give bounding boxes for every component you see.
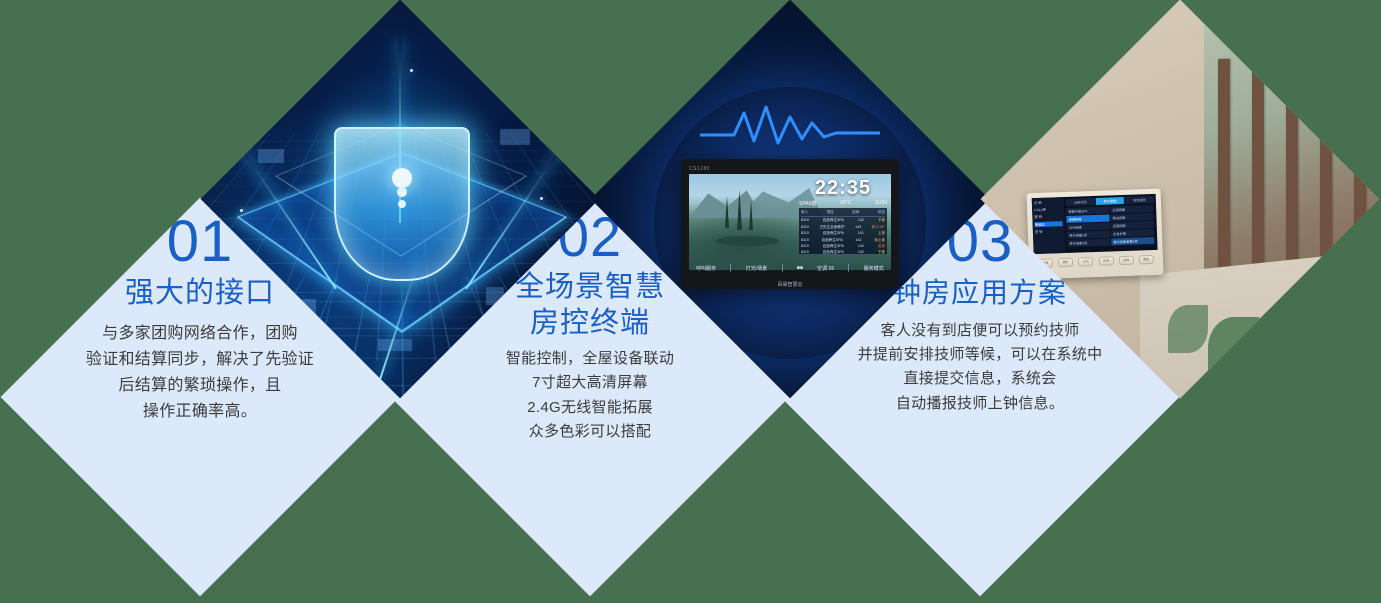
infographic-stage: 01 强大的接口 与多家团购网络合作，团购 验证和结算同步，解决了先验证 后结算… xyxy=(0,0,1381,603)
panel-hard-keys: 菜单 服务 灯光 空调 返回 确定 xyxy=(1034,255,1158,268)
cell-status: 剩11'55" xyxy=(872,225,885,230)
cell-room: 8119 xyxy=(801,238,809,243)
divider xyxy=(730,264,731,272)
cell-item: 自选养生SPA xyxy=(823,244,844,249)
cell-tech: 141 xyxy=(858,231,864,236)
cell-tech: 142 xyxy=(858,244,864,249)
spark-icon xyxy=(540,197,543,200)
cell-status: 加钟 xyxy=(878,244,885,249)
side-item[interactable]: 退 钟 xyxy=(1035,228,1063,234)
panel-title-line: 钟房应用方案 xyxy=(893,276,1067,310)
clock-widget: 22:35 SPA6楼 26°C 11/24 xyxy=(799,178,887,207)
panel-title-line: 房控终端 xyxy=(515,306,665,341)
service-table: 房人 项目 技师 状态 8119 自选养生SPA 142 下钟 xyxy=(799,208,887,254)
table-header-cell: 状态 xyxy=(878,210,885,215)
desc-line: 并提前安排技师等候，可以在系统中 xyxy=(858,343,1103,367)
side-item[interactable]: CALL钟 xyxy=(1034,206,1062,212)
bar-item-lighting[interactable]: 灯光/场景 xyxy=(746,265,767,272)
island-shape xyxy=(715,236,779,246)
desc-line: 众多色彩可以搭配 xyxy=(506,420,674,444)
device-bottom-bar: 呼叫服务 灯光/场景 ■■ 空调 26 服务模式 xyxy=(689,261,891,275)
plant-icon xyxy=(1250,319,1316,393)
panel-title-03: 钟房应用方案 xyxy=(893,276,1067,310)
key-button[interactable]: 灯光 xyxy=(1078,257,1093,267)
key-button[interactable]: 服务 xyxy=(1058,258,1073,268)
apps-grid-icon[interactable]: ■■ xyxy=(797,265,803,271)
chip-icon xyxy=(378,339,412,351)
wall-control-panel[interactable]: 点 钟 CALL钟 圈 钟 等候区 退 钟 全部项目 养生保健 特色服务 xyxy=(1027,189,1164,280)
panel-desc-03: 客人没有到店便可以预约技师 并提前安排技师等候，可以在系统中 直接提交信息，系统… xyxy=(858,319,1103,416)
side-item[interactable]: 点 钟 xyxy=(1034,199,1062,205)
wood-slat xyxy=(1218,59,1230,299)
cell-room: 8119 xyxy=(801,218,809,223)
divider xyxy=(848,264,849,272)
clock-subline: SPA6楼 26°C 11/24 xyxy=(799,200,887,207)
cell-tech: 142 xyxy=(855,238,861,243)
desc-line: 操作正确率高。 xyxy=(86,399,314,425)
panel-content: 全部项目 养生保健 特色服务 保健专案SPA 正规按摩 保健按摩 精油按摩 SP… xyxy=(1064,194,1158,253)
cell-status: 待上钟 xyxy=(874,238,885,243)
cell-tech: 142 xyxy=(858,250,864,255)
desc-line: 客人没有到店便可以预约技师 xyxy=(858,319,1103,343)
spark-icon xyxy=(410,69,413,72)
device-brand-label: CS1280 xyxy=(689,166,891,172)
device-screen: 22:35 SPA6楼 26°C 11/24 房人 项目 技师 xyxy=(689,174,891,270)
key-button[interactable]: 空调 xyxy=(1098,256,1113,266)
date-label: 11/24 xyxy=(875,200,887,207)
panel-service-list: 保健专案SPA 正规按摩 保健按摩 精油按摩 SPA经络 足部按摩 养生按摩2项… xyxy=(1066,205,1155,247)
table-header-cell: 技师 xyxy=(852,210,859,215)
cell-item: 王先生全身养护 xyxy=(819,225,844,230)
panel-title-02: 全场景智慧 房控终端 xyxy=(515,270,665,341)
cell-status: 下钟 xyxy=(878,218,885,223)
panel-title-line: 强大的接口 xyxy=(125,276,275,311)
cell-item: 自选养生SPA xyxy=(823,218,844,223)
cell-tech: 143 xyxy=(855,225,861,230)
control-terminal-device: CS1280 22:35 xyxy=(681,159,899,289)
cell-item: 自选养生SPA xyxy=(823,231,844,236)
cell-item: 自选养生SPA xyxy=(823,250,844,255)
bar-item-aircon[interactable]: 空调 26 xyxy=(817,265,834,272)
key-button[interactable]: 返回 xyxy=(1119,256,1134,266)
bar-item-call-service[interactable]: 呼叫服务 xyxy=(696,265,716,272)
desc-line: 7寸超大高清屏幕 xyxy=(506,371,674,395)
tab-special[interactable]: 特色服务 xyxy=(1125,196,1154,204)
table-header-cell: 房人 xyxy=(801,210,808,215)
cell-status: 下钟 xyxy=(878,250,885,255)
panel-screen: 点 钟 CALL钟 圈 钟 等候区 退 钟 全部项目 养生保健 特色服务 xyxy=(1032,194,1158,254)
zone-label: SPA6楼 xyxy=(799,200,816,207)
cell-room: 8119 xyxy=(801,225,809,230)
divider xyxy=(782,264,783,272)
side-item-selected[interactable]: 等候区 xyxy=(1035,221,1063,227)
service-item[interactable]: 豪华按摩套餐2项 xyxy=(1111,237,1154,245)
desc-line: 与多家团购网络合作，团购 xyxy=(86,321,314,347)
chip-icon xyxy=(500,129,530,145)
cell-tech: 142 xyxy=(858,218,864,223)
tab-all-items[interactable]: 全部项目 xyxy=(1066,198,1095,206)
table-header-row: 房人 项目 技师 状态 xyxy=(801,210,885,217)
plant-icon xyxy=(1208,317,1260,379)
clock-time: 22:35 xyxy=(799,178,887,198)
chip-icon xyxy=(258,149,284,163)
spark-icon xyxy=(240,209,243,212)
cell-status: 上钟 xyxy=(878,231,885,236)
desc-line: 智能控制，全屋设备联动 xyxy=(506,347,674,371)
table-row: 8119 自选养生SPA 142 下钟 xyxy=(801,249,885,255)
temperature-label: 26°C xyxy=(840,200,851,207)
plant-icon xyxy=(1168,305,1208,353)
desc-line: 自动播报技师上钟信息。 xyxy=(858,392,1103,416)
heartbeat-pulse-icon xyxy=(700,103,880,154)
panel-title-01: 强大的接口 xyxy=(125,276,275,311)
table-header-cell: 项目 xyxy=(827,210,834,215)
key-button[interactable]: 确定 xyxy=(1139,255,1154,265)
panel-title-line: 全场景智慧 xyxy=(515,270,665,305)
bar-item-service-mode[interactable]: 服务模式 xyxy=(864,265,884,272)
tab-wellness[interactable]: 养生保健 xyxy=(1096,197,1125,205)
cell-room: 8119 xyxy=(801,250,809,255)
service-item[interactable]: 养生按摩3项 xyxy=(1067,238,1110,246)
side-item[interactable]: 圈 钟 xyxy=(1034,213,1062,219)
shield-keyhole-icon xyxy=(334,127,470,281)
panel-desc-01: 与多家团购网络合作，团购 验证和结算同步，解决了先验证 后结算的繁琐操作，且 操… xyxy=(86,321,314,425)
panel-side-menu: 点 钟 CALL钟 圈 钟 等候区 退 钟 xyxy=(1032,197,1066,254)
device-footer-brand: 百易智慧云 xyxy=(681,281,899,288)
desc-line: 验证和结算同步，解决了先验证 xyxy=(86,347,314,373)
desc-line: 后结算的繁琐操作，且 xyxy=(86,373,314,399)
panel-desc-02: 智能控制，全屋设备联动 7寸超大高清屏幕 2.4G无线智能拓展 众多色彩可以搭配 xyxy=(506,347,674,444)
cell-item: 自选养生SPA xyxy=(821,238,842,243)
cell-room: 8119 xyxy=(801,244,809,249)
desc-line: 2.4G无线智能拓展 xyxy=(506,396,674,420)
wood-slat xyxy=(1320,95,1332,335)
wood-slat xyxy=(1354,107,1366,347)
desc-line: 直接提交信息，系统会 xyxy=(858,367,1103,391)
cell-room: 8119 xyxy=(801,231,809,236)
